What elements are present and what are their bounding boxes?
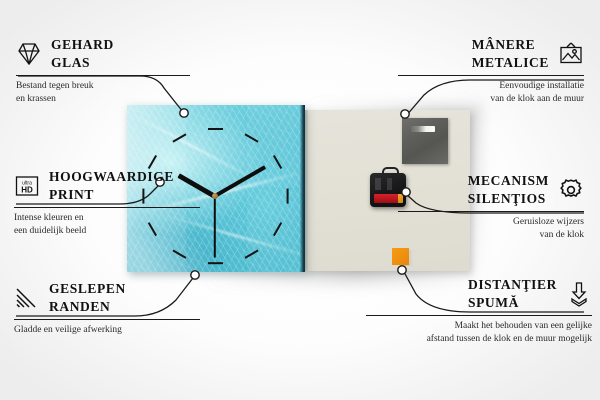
callout-rule xyxy=(14,319,200,320)
callout-rule xyxy=(398,75,584,76)
callout-title: MÂNERE METALICE xyxy=(472,36,549,72)
callout-polished-edges: GESLEPEN RANDEN Gladde en veilige afwerk… xyxy=(14,280,214,337)
hour-tick xyxy=(208,262,223,264)
callout-rule xyxy=(366,315,592,316)
hour-tick xyxy=(208,128,223,130)
gear-icon xyxy=(558,177,584,203)
ultra-hd-icon: ultra HD xyxy=(14,173,40,199)
callout-title: HOOGWAARDIGE PRINT xyxy=(49,168,174,204)
callout-heading: DISTANŢIER SPUMĂ xyxy=(352,276,592,312)
metal-hanger-plate xyxy=(402,118,448,164)
hour-tick xyxy=(286,188,288,203)
callout-heading: GEHARD GLAS xyxy=(16,36,206,72)
picture-frame-hanger-icon xyxy=(558,41,584,67)
callout-rule xyxy=(14,207,200,208)
callout-heading: MECANISM SILENŢIOS xyxy=(384,172,584,208)
down-arrow-layer-icon xyxy=(566,281,592,307)
callout-title: DISTANŢIER SPUMĂ xyxy=(468,276,557,312)
foam-spacer xyxy=(392,248,409,265)
callout-metal-handles: MÂNERE METALICE Eenvoudige installatie v… xyxy=(384,36,584,105)
polished-edge-icon xyxy=(14,285,40,311)
callout-title: MECANISM SILENŢIOS xyxy=(468,172,549,208)
callout-rule xyxy=(16,75,190,76)
hanger-slot xyxy=(411,126,435,132)
callout-tempered-glass: GEHARD GLAS Bestand tegen breuk en krass… xyxy=(16,36,206,105)
diamond-icon xyxy=(16,41,42,67)
glass-edge xyxy=(300,105,305,272)
callout-title: GEHARD GLAS xyxy=(51,36,114,72)
svg-text:HD: HD xyxy=(21,186,33,195)
infographic-canvas: GEHARD GLAS Bestand tegen breuk en krass… xyxy=(0,0,600,400)
callout-hd-print: ultra HD HOOGWAARDIGE PRINT Intense kleu… xyxy=(14,168,214,237)
callout-rule xyxy=(398,211,584,212)
second-hand xyxy=(214,196,216,258)
callout-title: GESLEPEN RANDEN xyxy=(49,280,126,316)
callout-heading: ultra HD HOOGWAARDIGE PRINT xyxy=(14,168,214,204)
callout-silent-mechanism: MECANISM SILENŢIOS Geruisloze wijzers va… xyxy=(384,172,584,241)
callout-heading: MÂNERE METALICE xyxy=(384,36,584,72)
callout-heading: GESLEPEN RANDEN xyxy=(14,280,214,316)
callout-foam-spacer: DISTANŢIER SPUMĂ Maakt het behouden van … xyxy=(352,276,592,345)
